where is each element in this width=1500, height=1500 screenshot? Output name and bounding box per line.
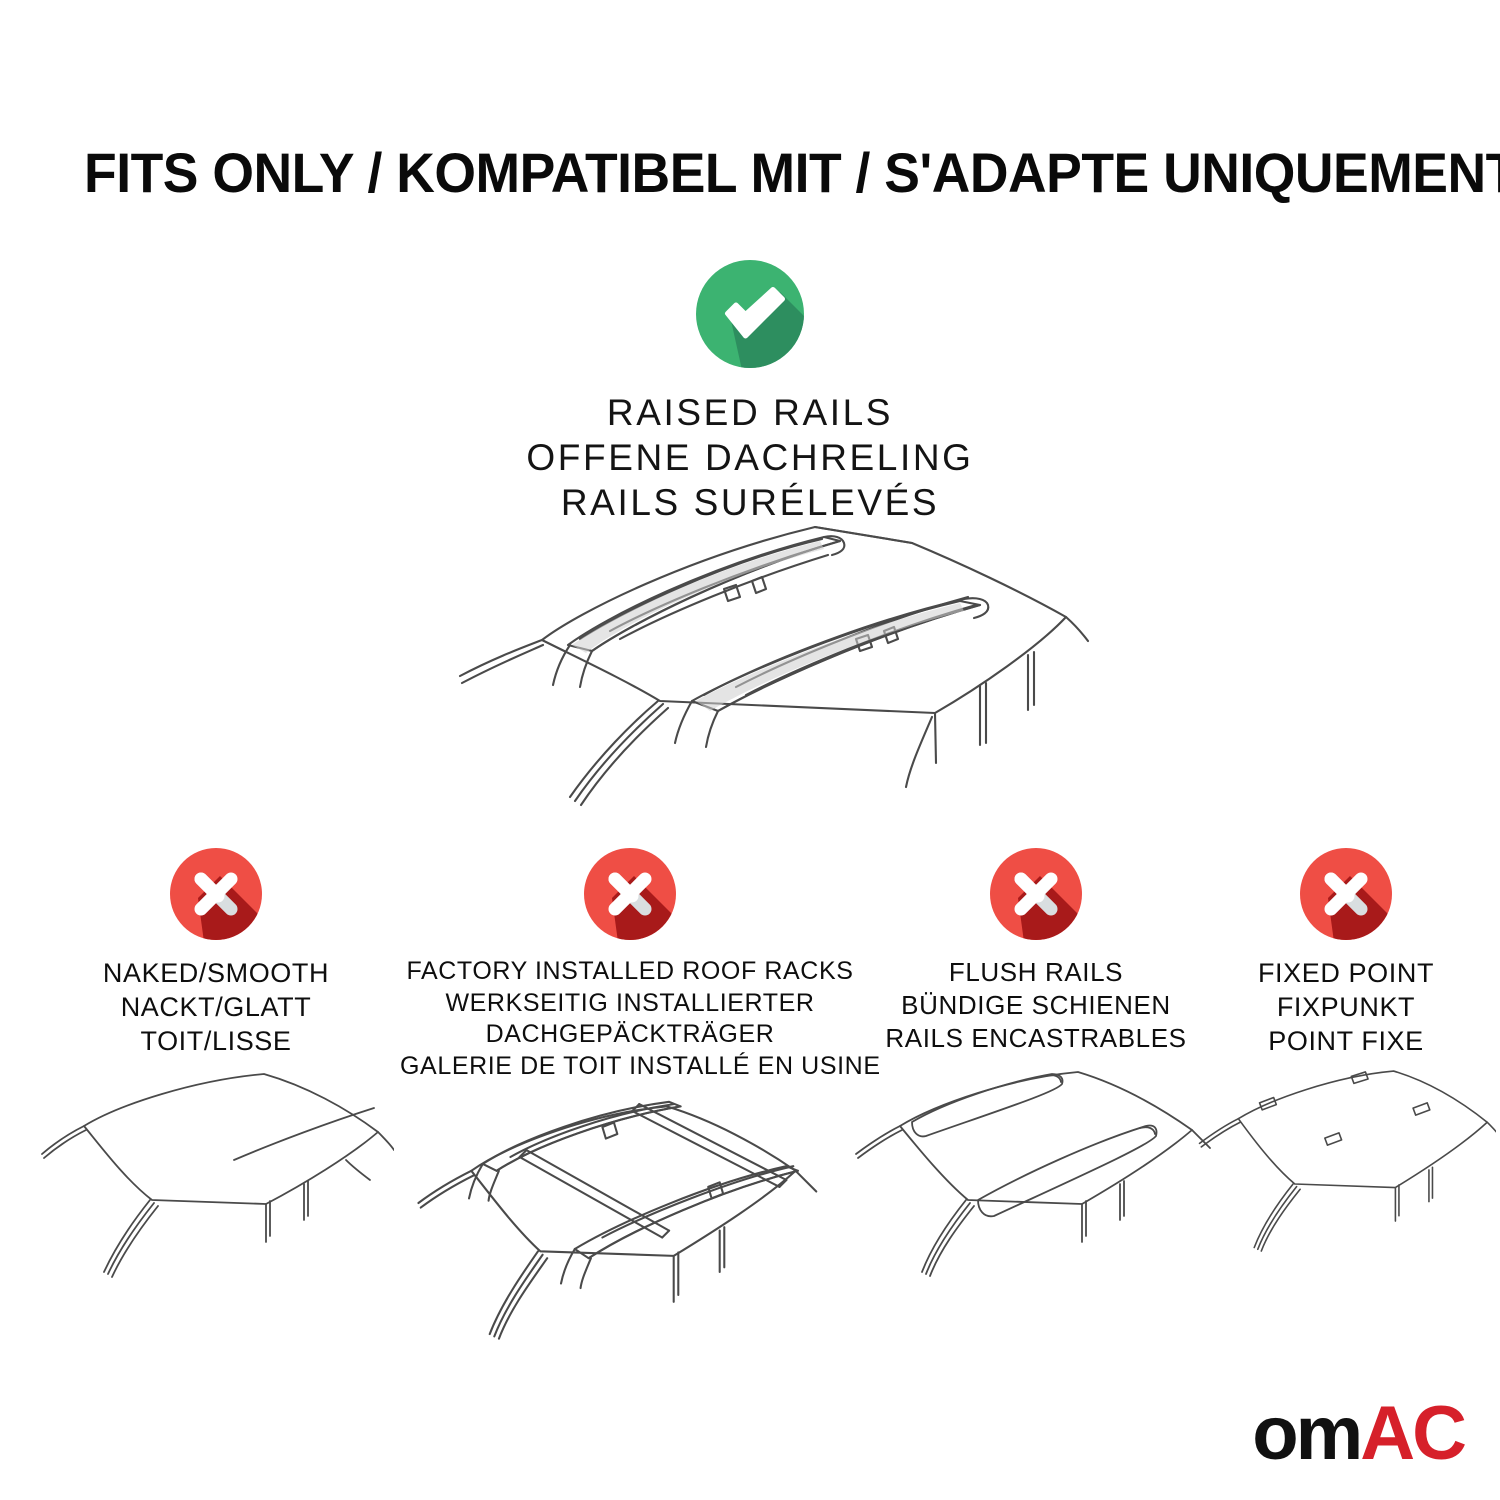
car-roof-naked-illustration (38, 1064, 394, 1284)
car-roof-flush-rails-illustration (850, 1060, 1222, 1286)
caption-line-de: BÜNDIGE SCHIENEN (850, 989, 1222, 1022)
check-circle-icon (694, 258, 806, 370)
caption-line-en: NAKED/SMOOTH (38, 956, 394, 990)
caption-line-de-2: DACHGEPÄCKTRÄGER (400, 1019, 860, 1051)
incompatible-caption-factory-roof-racks: FACTORY INSTALLED ROOF RACKS WERKSEITIG … (400, 956, 860, 1082)
caption-line-fr: GALERIE DE TOIT INSTALLÉ EN USINE (400, 1051, 860, 1083)
car-roof-fixed-point-illustration (1196, 1064, 1496, 1263)
caption-line-en: FIXED POINT (1196, 956, 1496, 990)
car-roof-raised-rails-illustration (420, 505, 1090, 835)
caption-line-de: FIXPUNKT (1196, 990, 1496, 1024)
compatible-line-en: RAISED RAILS (380, 390, 1120, 435)
logo-text-red: AC (1360, 1396, 1464, 1472)
caption-line-fr: RAILS ENCASTRABLES (850, 1022, 1222, 1055)
caption-line-en: FACTORY INSTALLED ROOF RACKS (400, 956, 860, 988)
cross-circle-icon (1298, 846, 1394, 942)
car-roof-factory-racks-illustration (400, 1088, 860, 1359)
incompatible-caption-naked-smooth: NAKED/SMOOTH NACKT/GLATT TOIT/LISSE (38, 956, 394, 1058)
cross-circle-icon (168, 846, 264, 942)
caption-line-fr: TOIT/LISSE (38, 1024, 394, 1058)
cross-circle-icon (582, 846, 678, 942)
incompatible-caption-fixed-point: FIXED POINT FIXPUNKT POINT FIXE (1196, 956, 1496, 1058)
logo-text-dark: om (1252, 1396, 1360, 1472)
caption-line-de: NACKT/GLATT (38, 990, 394, 1024)
incompatible-item-fixed-point: FIXED POINT FIXPUNKT POINT FIXE (1196, 846, 1496, 1263)
incompatible-item-naked-smooth: NAKED/SMOOTH NACKT/GLATT TOIT/LISSE (38, 846, 394, 1284)
caption-line-de-1: WERKSEITIG INSTALLIERTER (400, 988, 860, 1020)
incompatible-item-flush-rails: FLUSH RAILS BÜNDIGE SCHIENEN RAILS ENCAS… (850, 846, 1222, 1286)
cross-circle-icon (988, 846, 1084, 942)
caption-line-fr: POINT FIXE (1196, 1024, 1496, 1058)
page-title: FITS ONLY / KOMPATIBEL MIT / S'ADAPTE UN… (84, 142, 1364, 204)
incompatible-item-factory-roof-racks: FACTORY INSTALLED ROOF RACKS WERKSEITIG … (400, 846, 860, 1359)
omac-logo: om AC (1252, 1396, 1464, 1472)
incompatible-caption-flush-rails: FLUSH RAILS BÜNDIGE SCHIENEN RAILS ENCAS… (850, 956, 1222, 1054)
compatible-section: RAISED RAILS OFFENE DACHRELING RAILS SUR… (380, 258, 1120, 525)
caption-line-en: FLUSH RAILS (850, 956, 1222, 989)
incompatible-section: NAKED/SMOOTH NACKT/GLATT TOIT/LISSE (0, 846, 1500, 1326)
compatible-line-de: OFFENE DACHRELING (380, 435, 1120, 480)
